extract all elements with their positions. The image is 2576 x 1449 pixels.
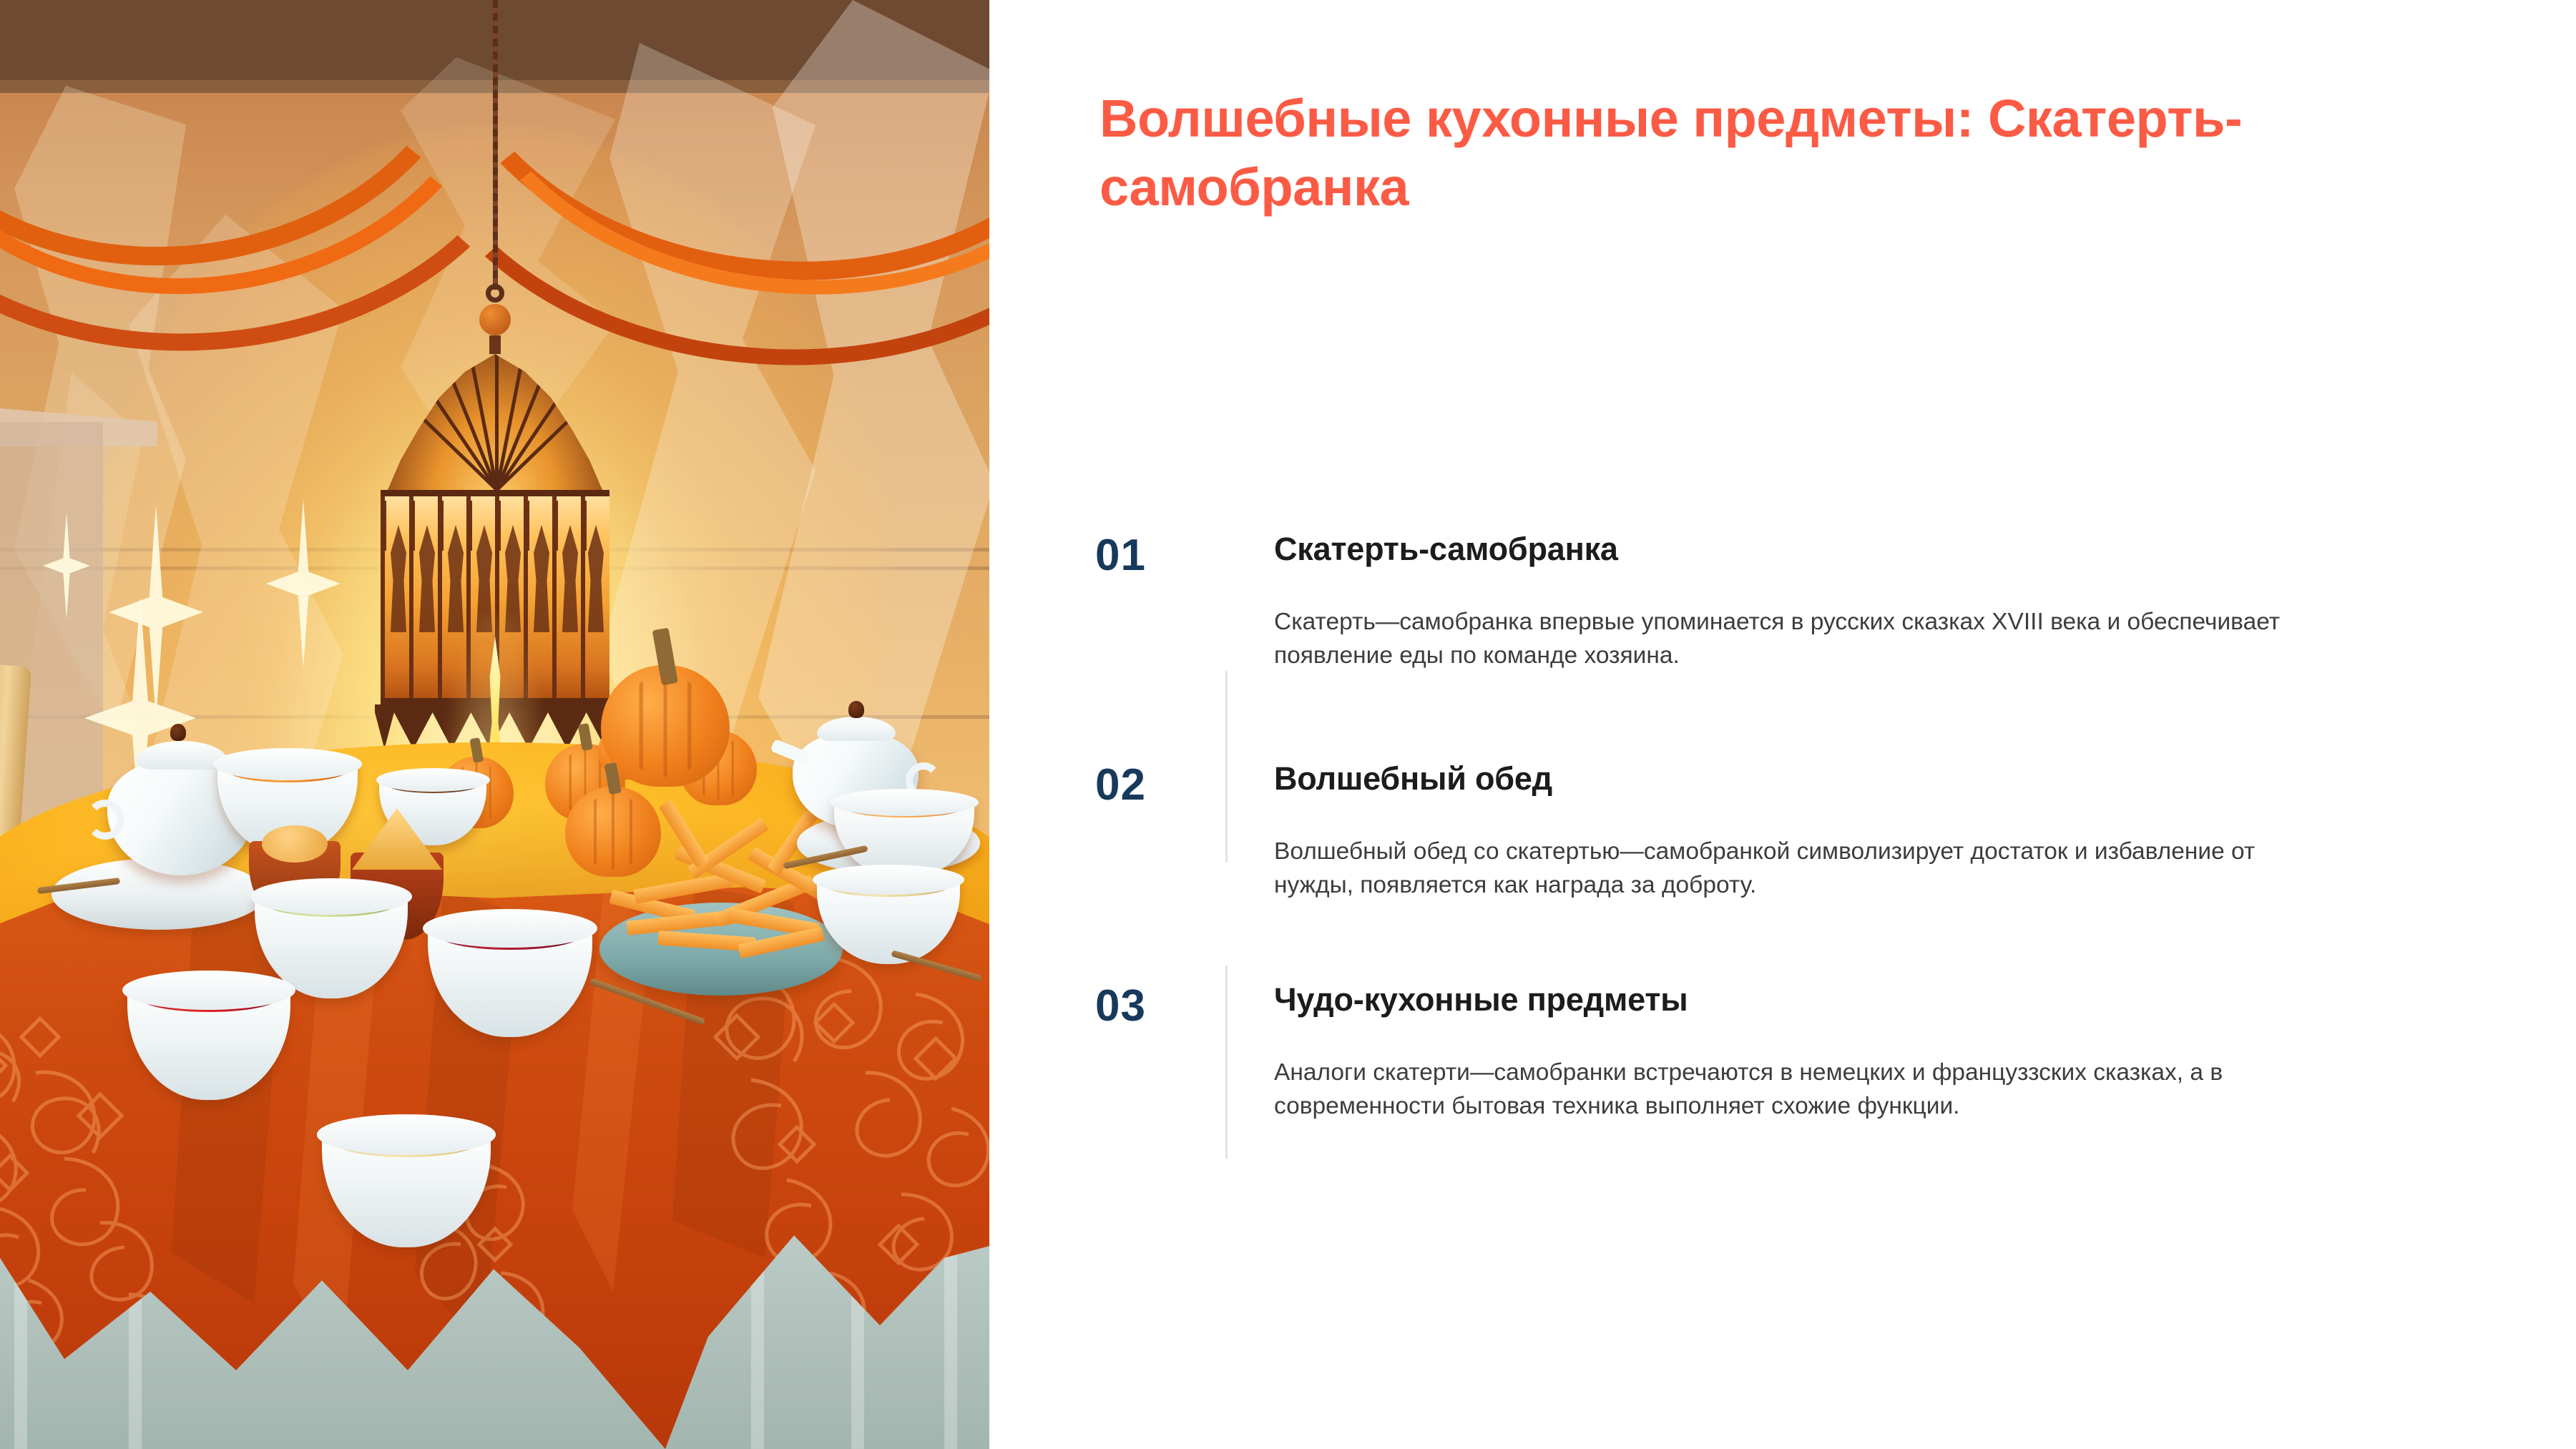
bowl-rim [830, 789, 979, 816]
bowl-rim [213, 748, 362, 780]
list-item-heading: Чудо-кухонные предметы [1274, 981, 2411, 1018]
list-item[interactable]: 01 Скатерть-самобранка Скатерть—самобран… [1095, 531, 2497, 673]
list-item-number: 01 [1095, 531, 1274, 673]
bowl-rim [317, 1114, 496, 1154]
lantern-dome [388, 354, 602, 490]
list-item[interactable]: 02 Волшебный обед Волшебный обед со скат… [1095, 760, 2497, 903]
teapot-handle [86, 800, 124, 840]
list-item-heading: Волшебный обед [1274, 760, 2411, 797]
list-item-number: 02 [1095, 760, 1274, 903]
lantern-chain [493, 0, 498, 290]
clay-pot-contents [262, 825, 328, 863]
teapot-knob [848, 701, 864, 718]
list-item-number: 03 [1095, 981, 1274, 1124]
numbered-list: 01 Скатерть-самобранка Скатерть—самобран… [1095, 531, 2497, 1124]
content-panel: Волшебные кухонные предметы: Скатерть-са… [989, 0, 2576, 1449]
list-item-heading: Скатерть-самобранка [1274, 531, 2411, 568]
lantern-chain-ring [486, 284, 504, 303]
pumpkin-large [601, 665, 730, 787]
bowl-rim [376, 768, 490, 792]
teapot-knob [170, 724, 186, 741]
bowl-rim [250, 878, 413, 915]
lantern-finial [479, 304, 511, 335]
bowl-rim [813, 865, 964, 895]
illustration-panel [0, 0, 989, 1449]
slide: Волшебные кухонные предметы: Скатерть-са… [0, 0, 2576, 1449]
bowl-rim [423, 909, 597, 948]
lantern-dome-ribs [388, 354, 602, 490]
bowl-rim [122, 971, 295, 1010]
page-title: Волшебные кухонные предметы: Скатерть-са… [1100, 84, 2473, 222]
list-item-body: Волшебный обед со скатертью—самобранкой … [1274, 835, 2304, 903]
lantern-neck [489, 335, 501, 354]
list-item[interactable]: 03 Чудо-кухонные предметы Аналоги скатер… [1095, 981, 2497, 1124]
list-item-body: Аналоги скатерти—самобранки встречаются … [1274, 1056, 2304, 1124]
list-item-body: Скатерть—самобранка впервые упоминается … [1274, 605, 2304, 673]
